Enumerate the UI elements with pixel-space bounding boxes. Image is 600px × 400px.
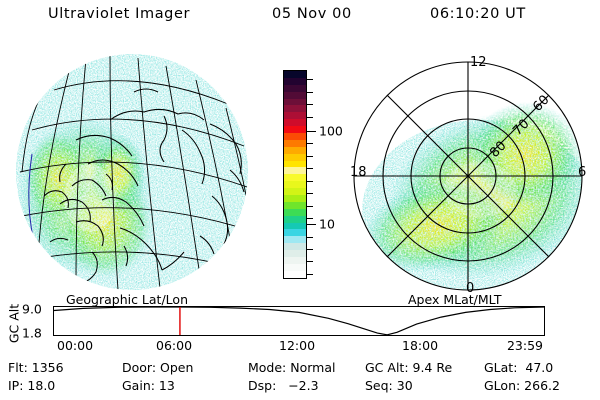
geographic-globe-panel: [14, 46, 254, 294]
colorbar-minor-tick: [307, 218, 313, 219]
orbit-time-tick: 06:00: [156, 338, 192, 353]
orbit-ytick-top: 9.0: [22, 302, 42, 317]
colorbar-swatch: [284, 209, 306, 216]
status-panel: Flt: 1356 IP: 18.0 Door: Open Gain: 13 M…: [0, 360, 600, 400]
colorbar-swatch: [284, 161, 306, 168]
status-mode: Mode: Normal: [248, 360, 335, 375]
status-gc-alt: GC Alt: 9.4 Re: [365, 360, 452, 375]
polar-mlt-label: 12: [470, 55, 487, 70]
polar-mlt-label: 18: [350, 165, 367, 180]
colorbar-swatch: [284, 140, 306, 147]
colorbar-tick-label: 10: [319, 217, 335, 232]
status-dsp: Dsp: −2.3: [248, 378, 319, 393]
colorbar-swatch: [284, 99, 306, 106]
polar-mlt-label: 6: [578, 165, 586, 180]
colorbar-swatch: [284, 85, 306, 92]
colorbar-swatch: [284, 195, 306, 202]
header-bar: Ultraviolet Imager 05 Nov 00 06:10:20 UT: [0, 6, 600, 30]
status-door: Door: Open: [122, 360, 193, 375]
colorbar-minor-tick: [307, 274, 313, 275]
colorbar-swatch: [284, 216, 306, 223]
orbit-time-tick: 18:00: [402, 338, 438, 353]
instrument-title: Ultraviolet Imager: [48, 6, 190, 22]
colorbar-swatch: [284, 147, 306, 154]
orbit-altitude-panel: Geographic Lat/Lon Apex MLat/MLT GC Alt …: [0, 292, 600, 354]
colorbar-minor-tick: [307, 249, 313, 250]
colorbar-swatch: [284, 181, 306, 188]
colorbar-minor-tick: [307, 168, 313, 169]
orbit-plot-area[interactable]: [53, 306, 545, 336]
geographic-globe-image: [14, 46, 254, 294]
globe-caption: Geographic Lat/Lon: [66, 292, 188, 307]
colorbar-swatch: [284, 236, 306, 243]
status-gain: Gain: 13: [122, 378, 175, 393]
colorbar-minor-tick: [307, 143, 313, 144]
colorbar-minor-tick: [307, 261, 313, 262]
colorbar-swatch: [284, 112, 306, 119]
colorbar-minor-tick: [307, 92, 313, 93]
polar-caption: Apex MLat/MLT: [408, 292, 502, 307]
orbit-y-axis-label: GC Alt: [7, 294, 22, 354]
colorbar-swatch: [284, 92, 306, 99]
colorbar-swatch: [284, 71, 306, 78]
status-flight: Flt: 1356: [8, 360, 64, 375]
colorbar-swatch: [284, 250, 306, 257]
colorbar-swatch: [284, 78, 306, 85]
apex-polar-image: 121860 607080: [340, 44, 596, 296]
colorbar-panel: photon cm-2s-1 10010: [258, 60, 338, 295]
orbit-altitude-curve: [54, 307, 544, 335]
status-glat: GLat: 47.0: [484, 360, 553, 375]
polar-aurora-cavity: [444, 162, 516, 218]
colorbar-minor-tick: [307, 104, 313, 105]
colorbar-swatch: [284, 271, 306, 278]
observation-time: 06:10:20 UT: [430, 6, 526, 22]
colorbar-minor-tick: [307, 156, 313, 157]
colorbar-swatch: [284, 154, 306, 161]
orbit-time-tick: 00:00: [57, 338, 93, 353]
orbit-ytick-bottom: 1.8: [22, 326, 42, 341]
colorbar-swatch: [284, 105, 306, 112]
colorbar-swatch: [284, 167, 306, 174]
colorbar-minor-tick: [307, 193, 313, 194]
status-seq: Seq: 30: [365, 378, 413, 393]
colorbar-swatch: [284, 133, 306, 140]
colorbar-minor-tick: [307, 181, 313, 182]
colorbar-minor-tick: [307, 117, 313, 118]
status-ip: IP: 18.0: [8, 378, 55, 393]
colorbar-minor-tick: [307, 237, 313, 238]
colorbar-swatch: [284, 126, 306, 133]
colorbar-swatch: [284, 174, 306, 181]
colorbar-swatch: [284, 202, 306, 209]
colorbar-minor-tick: [307, 79, 313, 80]
observation-date: 05 Nov 00: [272, 6, 352, 22]
colorbar-ticks: 10010: [307, 70, 341, 279]
colorbar-swatch: [284, 229, 306, 236]
colorbar-swatch: [284, 188, 306, 195]
colorbar-major-tick: [307, 131, 316, 132]
colorbar-swatch: [284, 257, 306, 264]
colorbar-swatch: [284, 119, 306, 126]
orbit-time-tick: 12:00: [279, 338, 315, 353]
status-glon: GLon: 266.2: [484, 378, 560, 393]
colorbar-minor-tick: [307, 206, 313, 207]
apex-polar-panel: 121860 607080: [340, 44, 596, 296]
colorbar-swatch: [284, 264, 306, 271]
colorbar-gradient: [283, 70, 307, 279]
polar-mlt-spokes: [354, 62, 582, 290]
colorbar-swatch: [284, 243, 306, 250]
colorbar-major-tick: [307, 224, 316, 225]
colorbar-swatch: [284, 223, 306, 230]
orbit-time-tick: 23:59: [507, 338, 543, 353]
